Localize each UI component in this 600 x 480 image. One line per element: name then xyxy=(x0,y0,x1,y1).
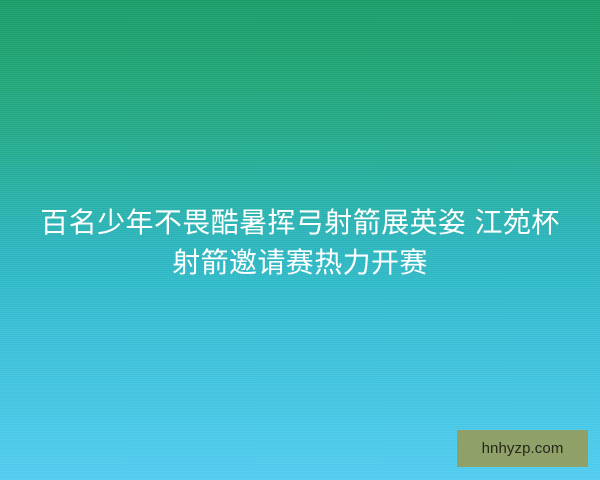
thumbnail-canvas: 百名少年不畏酷暑挥弓射箭展英姿 江苑杯射箭邀请赛热力开赛 hnhyzp.com xyxy=(0,0,600,480)
watermark-label: hnhyzp.com xyxy=(482,441,564,456)
headline-container: 百名少年不畏酷暑挥弓射箭展英姿 江苑杯射箭邀请赛热力开赛 xyxy=(0,203,600,283)
page-title: 百名少年不畏酷暑挥弓射箭展英姿 江苑杯射箭邀请赛热力开赛 xyxy=(30,203,570,283)
watermark-badge: hnhyzp.com xyxy=(457,430,588,467)
